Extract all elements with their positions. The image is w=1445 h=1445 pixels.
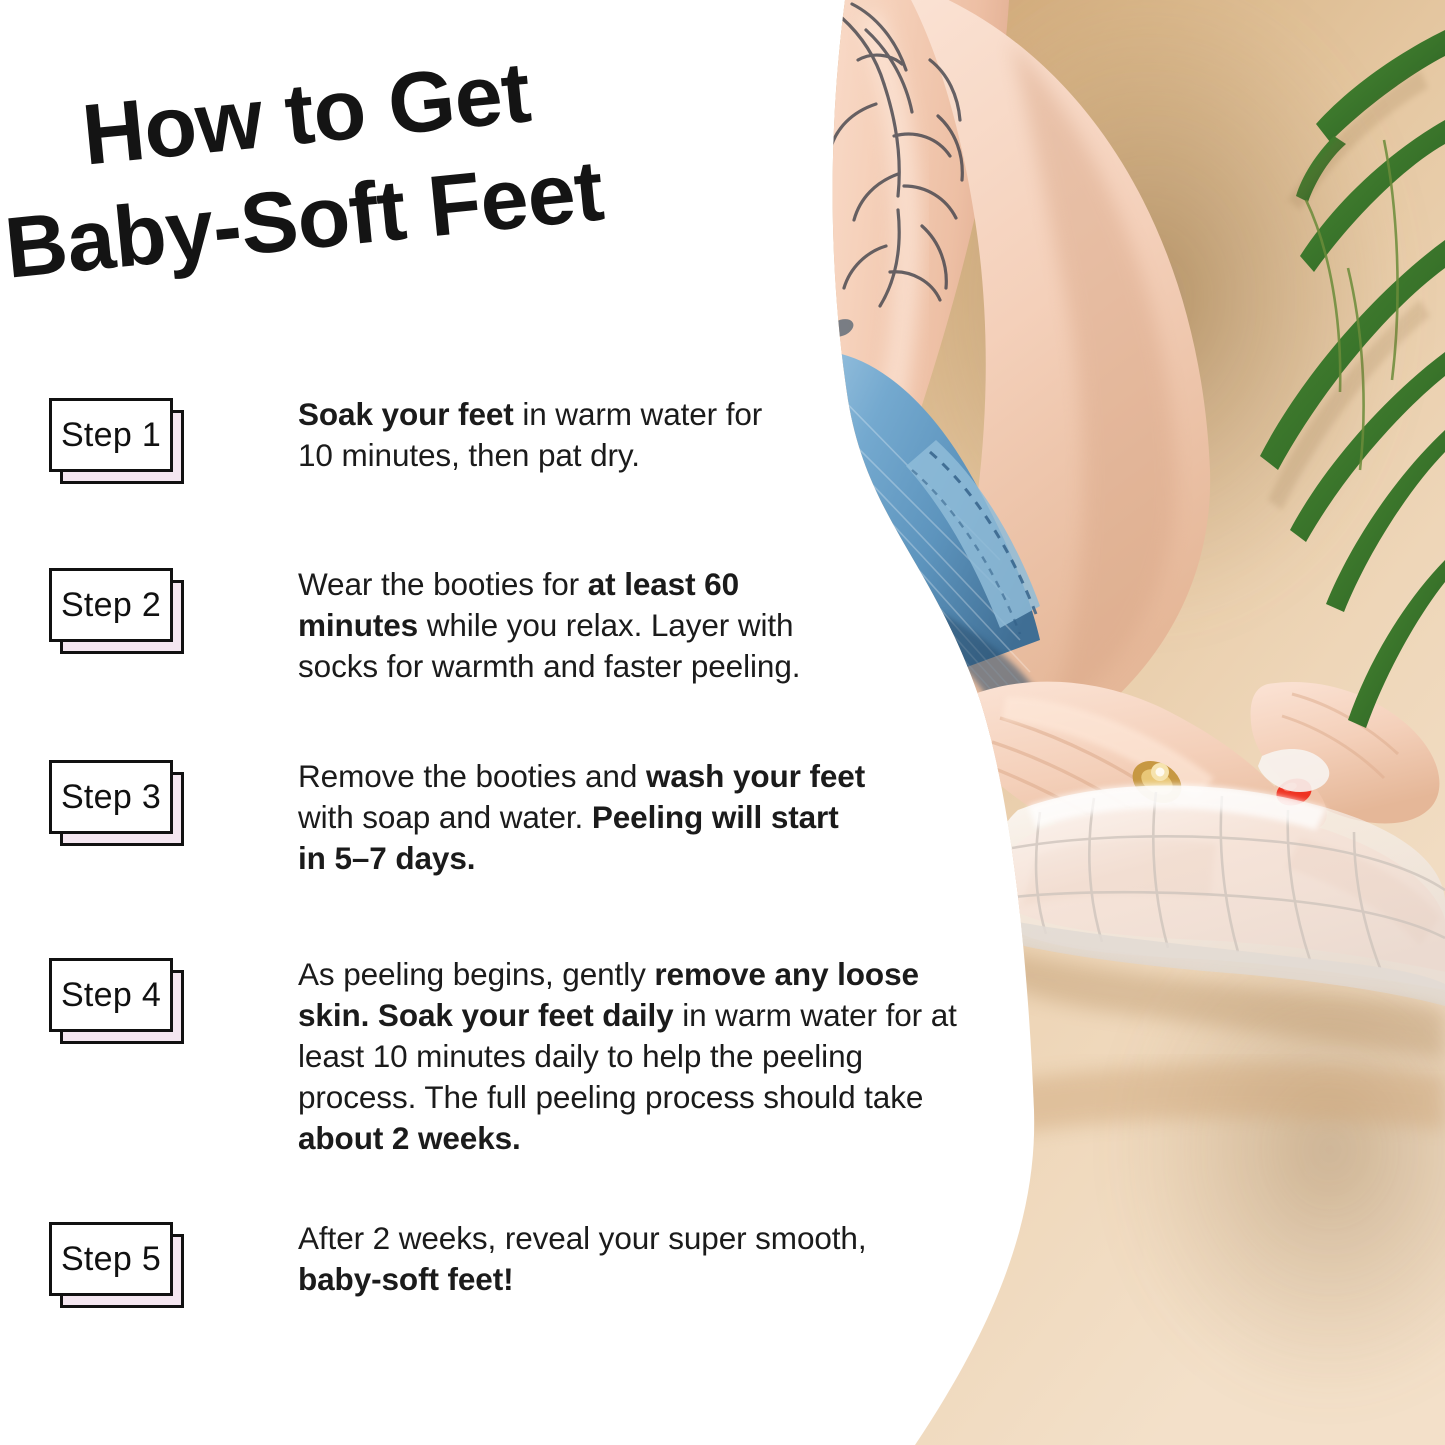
left-hand-highlight [1002, 696, 1214, 800]
step-badge-4: Step 4 [49, 958, 239, 1048]
plastic-highlight [1028, 784, 1326, 830]
step-text-1: Soak your feet in warm water for 10 minu… [298, 394, 768, 476]
right-hand [1251, 682, 1440, 824]
step-badge-label-2: Step 2 [61, 588, 161, 622]
red-nail-right-gloss [1282, 781, 1298, 793]
arm-highlight [842, 10, 921, 610]
plastic-bootie [988, 785, 1445, 990]
plastic-pinched-corner [1258, 749, 1329, 792]
palm-stems [1306, 140, 1398, 470]
left-hand-fingers [1170, 824, 1268, 915]
plastic-bottom-seal [1000, 920, 1445, 1006]
foot-toes-shading [1286, 838, 1440, 946]
foot-skin [996, 806, 1445, 972]
page-title: How to Get Baby-Soft Feet [78, 18, 795, 291]
red-nail-left-gloss [1182, 847, 1200, 863]
arm-inner-shading [1010, 40, 1176, 720]
step-badge-5: Step 5 [49, 1222, 239, 1312]
step-badge-3: Step 3 [49, 760, 239, 850]
denim-shadow-edge [916, 612, 1042, 716]
left-hand [952, 682, 1309, 885]
plastic-folds [1004, 792, 1445, 968]
red-nail-right [1273, 774, 1315, 810]
denim-cuff-stitch [930, 452, 1036, 614]
backdrop-seam [890, 1064, 1445, 1160]
step-badge-label-3: Step 3 [61, 780, 161, 814]
step-text-3: Remove the booties and wash your feet wi… [298, 756, 870, 879]
forearm-tattoo [830, 4, 962, 306]
step-badge-front-3: Step 3 [49, 760, 173, 834]
palm-leaf-shadows [1268, 70, 1430, 510]
step-badge-2: Step 2 [49, 568, 239, 658]
step-badge-front-5: Step 5 [49, 1222, 173, 1296]
step-badge-label-4: Step 4 [61, 978, 161, 1012]
plastic-bootie-shadow [984, 950, 1445, 1060]
right-hand-knuckles [1282, 694, 1398, 778]
right-thumb [1272, 770, 1327, 830]
step-badge-front-4: Step 4 [49, 958, 173, 1032]
infographic-canvas: How to Get Baby-Soft Feet Step 1 Soak yo… [0, 0, 1445, 1445]
backdrop-shadow-lower [1110, 890, 1445, 1410]
step-text-2: Wear the booties for at least 60 minutes… [298, 564, 858, 687]
step-badge-label-1: Step 1 [61, 418, 161, 452]
step-badge-front-2: Step 2 [49, 568, 173, 642]
step-badge-front-1: Step 1 [49, 398, 173, 472]
denim-cuff-stitch-2 [912, 470, 1020, 634]
step-badge-label-5: Step 5 [61, 1242, 161, 1276]
foot-heel-shading [1022, 839, 1216, 906]
left-hand-tendons [988, 718, 1176, 854]
tattoo-small-mark [826, 316, 856, 341]
step-badge-1: Step 1 [49, 398, 239, 488]
gold-ring [1125, 753, 1189, 812]
palm-leaves [1260, 30, 1445, 728]
backdrop-shadow [890, 0, 1410, 630]
red-nail-left [1171, 836, 1221, 884]
step-text-5: After 2 weeks, reveal your super smooth,… [298, 1218, 938, 1300]
upper-arm-skin [900, 0, 1210, 760]
denim-cuff-hem [906, 440, 1040, 628]
step-text-4: As peeling begins, gently remove any loo… [298, 954, 968, 1159]
